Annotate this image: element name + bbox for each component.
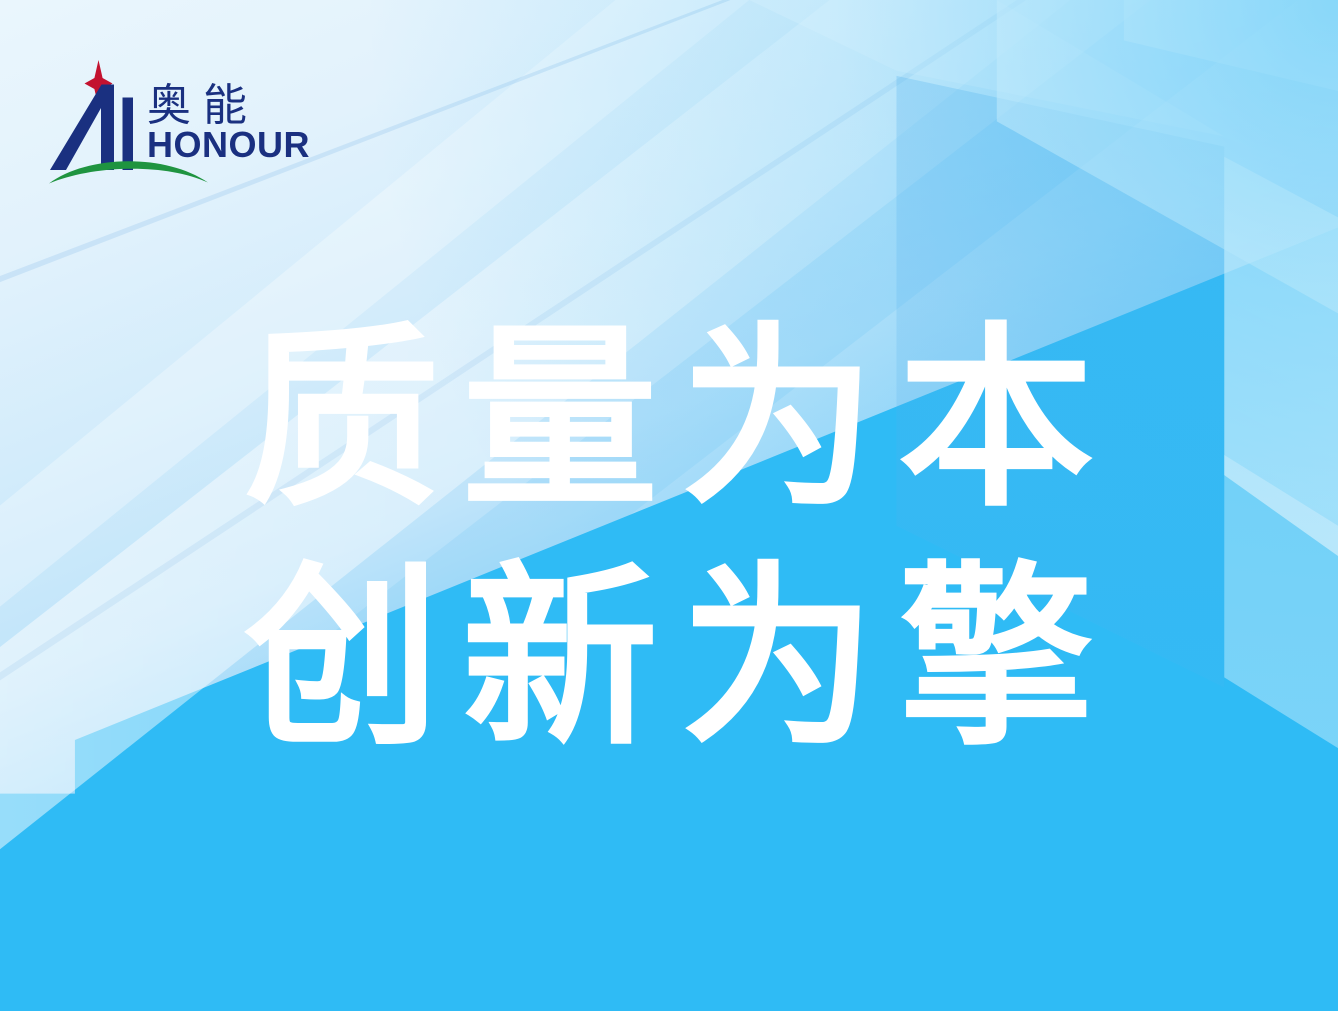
slogan-line-2: 创新为擎 — [0, 539, 1338, 778]
logo-name-cn: 奥能 — [147, 81, 259, 130]
slogan-line-1: 质量为本 — [0, 300, 1338, 539]
honour-a-mark-icon — [50, 85, 133, 171]
logo-name-en: HONOUR — [147, 124, 310, 165]
company-logo: 奥能 HONOUR — [48, 52, 310, 200]
slide-canvas: 奥能 HONOUR 质量为本 创新为擎 — [0, 0, 1338, 1011]
slogan-block: 质量为本 创新为擎 — [0, 300, 1338, 778]
